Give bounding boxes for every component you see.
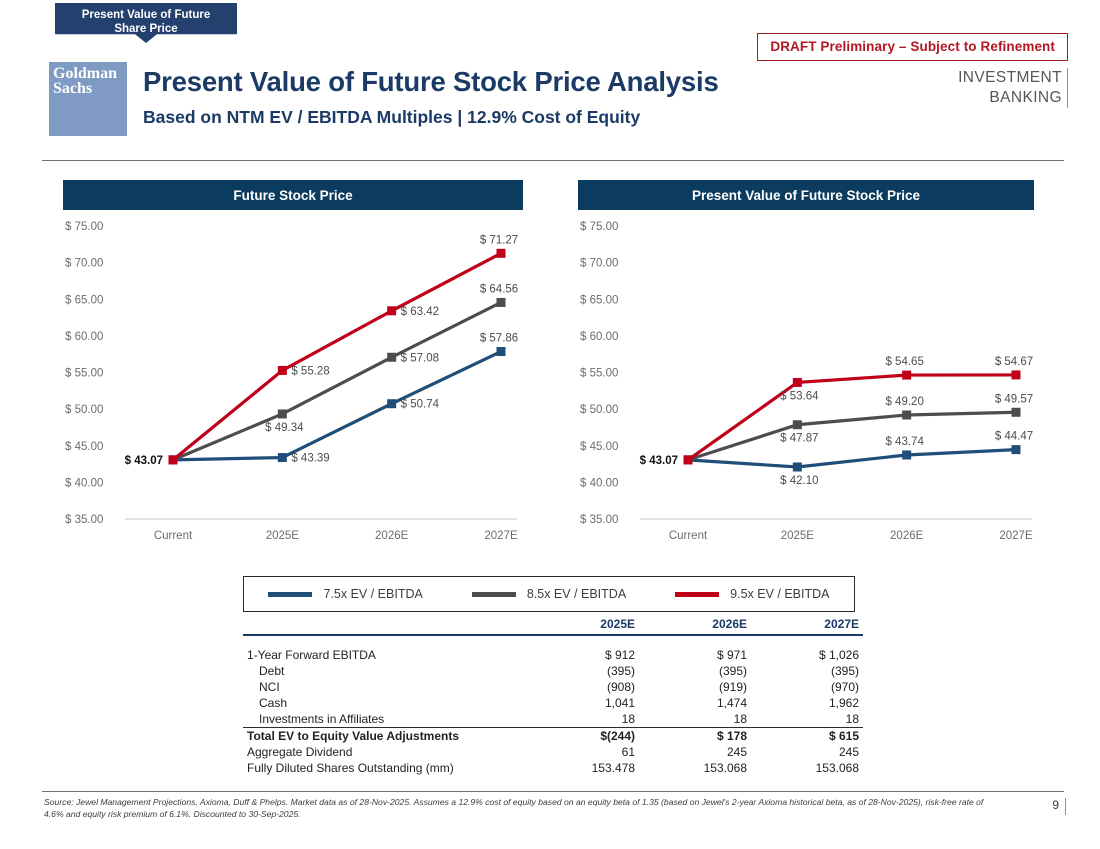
- table-cell-value: 153.068: [751, 760, 863, 776]
- table-cell-value: (395): [527, 663, 639, 679]
- table-cell-value: $(244): [527, 728, 639, 745]
- y-axis-tick-label: $ 75.00: [65, 221, 103, 233]
- table-cell-label: NCI: [243, 679, 527, 695]
- data-point-label: $ 49.20: [885, 396, 923, 408]
- table-row: Total EV to Equity Value Adjustments$(24…: [243, 728, 863, 745]
- data-point-label: $ 43.39: [291, 453, 329, 465]
- page-subtitle: Based on NTM EV / EBITDA Multiples | 12.…: [143, 107, 640, 128]
- legend-item-1: 7.5x EV / EBITDA: [244, 587, 447, 601]
- logo-line1: Goldman: [49, 62, 127, 81]
- data-point-marker: [1012, 445, 1021, 454]
- y-axis-tick-label: $ 40.00: [580, 477, 618, 489]
- table-cell-value: 153.068: [639, 760, 751, 776]
- y-axis-tick-label: $ 50.00: [65, 404, 103, 416]
- data-point-marker: [278, 453, 287, 462]
- data-point-marker: [902, 450, 911, 459]
- legend-label-1: 7.5x EV / EBITDA: [323, 587, 422, 601]
- page-number: 9: [1052, 798, 1066, 815]
- section-tab-banner: Present Value of Future Share Price: [55, 3, 237, 43]
- table-row: NCI(908)(919)(970): [243, 679, 863, 695]
- data-point-marker: [684, 455, 693, 464]
- table-cell-value: $ 178: [639, 728, 751, 745]
- table-row: 1-Year Forward EBITDA$ 912$ 971$ 1,026: [243, 647, 863, 663]
- data-point-marker: [1012, 408, 1021, 417]
- x-axis-tick-label: Current: [154, 530, 193, 542]
- investment-banking-mark: INVESTMENT BANKING: [958, 68, 1068, 108]
- legend-label-2: 8.5x EV / EBITDA: [527, 587, 626, 601]
- data-point-marker: [793, 462, 802, 471]
- y-axis-tick-label: $ 65.00: [65, 294, 103, 306]
- y-axis-tick-label: $ 40.00: [65, 477, 103, 489]
- table-cell-value: $ 971: [639, 647, 751, 663]
- table-cell-value: 1,962: [751, 695, 863, 711]
- table-cell-label: Investments in Affiliates: [243, 711, 527, 728]
- y-axis-tick-label: $ 45.00: [65, 441, 103, 453]
- x-axis-tick-label: 2027E: [484, 530, 518, 542]
- table-col-label: [243, 617, 527, 635]
- table-cell-value: $ 615: [751, 728, 863, 745]
- data-point-label: $ 64.56: [480, 283, 518, 295]
- data-point-label: $ 54.65: [885, 356, 923, 368]
- table-cell-value: $ 912: [527, 647, 639, 663]
- table-row: Fully Diluted Shares Outstanding (mm)153…: [243, 760, 863, 776]
- chart-title-present-value-future-stock-price: Present Value of Future Stock Price: [578, 180, 1034, 210]
- table-spacer-row: [243, 635, 863, 647]
- y-axis-tick-label: $ 45.00: [580, 441, 618, 453]
- data-point-label: $ 54.67: [995, 356, 1033, 368]
- chart-present-value-future-stock-price: $ 35.00$ 40.00$ 45.00$ 50.00$ 55.00$ 60.…: [578, 214, 1048, 559]
- series-line: [688, 450, 1016, 467]
- x-axis-tick-label: 2026E: [375, 530, 409, 542]
- header-divider: [42, 160, 1064, 161]
- legend-item-3: 9.5x EV / EBITDA: [651, 587, 854, 601]
- y-axis-tick-label: $ 35.00: [580, 514, 618, 526]
- table-row: Cash1,0411,4741,962: [243, 695, 863, 711]
- data-point-marker: [387, 353, 396, 362]
- table-cell-value: (395): [751, 663, 863, 679]
- data-point-marker: [497, 298, 506, 307]
- data-point-marker: [793, 420, 802, 429]
- chart-legend: 7.5x EV / EBITDA8.5x EV / EBITDA9.5x EV …: [243, 576, 855, 612]
- table-col-2026e: 2026E: [639, 617, 751, 635]
- table-cell-value: 245: [751, 744, 863, 760]
- y-axis-tick-label: $ 50.00: [580, 404, 618, 416]
- data-point-marker: [497, 249, 506, 258]
- data-point-marker: [387, 306, 396, 315]
- ib-mark-line1: INVESTMENT: [958, 68, 1062, 88]
- data-point-label: $ 43.74: [885, 436, 924, 448]
- y-axis-tick-label: $ 75.00: [580, 221, 618, 233]
- table-cell-label: 1-Year Forward EBITDA: [243, 647, 527, 663]
- data-point-label: $ 63.42: [401, 306, 439, 318]
- y-axis-tick-label: $ 65.00: [580, 294, 618, 306]
- table-cell-value: 245: [639, 744, 751, 760]
- series-line: [173, 302, 501, 459]
- table-col-2025e: 2025E: [527, 617, 639, 635]
- series-line: [688, 375, 1016, 460]
- table-cell-value: (919): [639, 679, 751, 695]
- series-line: [173, 352, 501, 460]
- data-point-label: $ 44.47: [995, 431, 1033, 443]
- y-axis-tick-label: $ 60.00: [65, 331, 103, 343]
- data-point-label: $ 55.28: [291, 365, 329, 377]
- table-cell-value: (908): [527, 679, 639, 695]
- table-row: Debt(395)(395)(395): [243, 663, 863, 679]
- y-axis-tick-label: $ 55.00: [580, 368, 618, 380]
- page-title: Present Value of Future Stock Price Anal…: [143, 66, 719, 98]
- legend-swatch-2: [472, 592, 516, 597]
- table-cell-label: Debt: [243, 663, 527, 679]
- x-axis-tick-label: Current: [669, 530, 708, 542]
- data-point-label: $ 42.10: [780, 475, 818, 487]
- data-point-label: $ 57.86: [480, 333, 518, 345]
- table-cell-label: Cash: [243, 695, 527, 711]
- table-cell-value: $ 1,026: [751, 647, 863, 663]
- current-price-label: $ 43.07: [125, 455, 163, 467]
- x-axis-tick-label: 2027E: [999, 530, 1033, 542]
- data-point-label: $ 47.87: [780, 433, 818, 445]
- table-cell-value: 61: [527, 744, 639, 760]
- section-tab-line1: Present Value of Future: [55, 8, 237, 22]
- legend-label-3: 9.5x EV / EBITDA: [730, 587, 829, 601]
- table-col-2027e: 2027E: [751, 617, 863, 635]
- table-cell-value: 153.478: [527, 760, 639, 776]
- x-axis-tick-label: 2026E: [890, 530, 924, 542]
- y-axis-tick-label: $ 70.00: [65, 258, 103, 270]
- data-point-label: $ 57.08: [401, 352, 439, 364]
- table-row: Aggregate Dividend61245245: [243, 744, 863, 760]
- data-point-marker: [169, 455, 178, 464]
- logo-line2: Sachs: [49, 81, 127, 96]
- data-point-marker: [278, 366, 287, 375]
- y-axis-tick-label: $ 55.00: [65, 368, 103, 380]
- table-cell-value: (395): [639, 663, 751, 679]
- section-tab-line2: Share Price: [55, 22, 237, 36]
- current-price-label: $ 43.07: [640, 455, 678, 467]
- ev-to-equity-adjustments-table: 2025E 2026E 2027E 1-Year Forward EBITDA$…: [243, 617, 863, 776]
- data-point-label: $ 50.74: [401, 399, 440, 411]
- data-point-label: $ 49.34: [265, 422, 304, 434]
- source-note: Source: Jewel Management Projections, Ax…: [44, 797, 1004, 820]
- table-cell-label: Aggregate Dividend: [243, 744, 527, 760]
- legend-swatch-3: [675, 592, 719, 597]
- chart-title-future-stock-price: Future Stock Price: [63, 180, 523, 210]
- y-axis-tick-label: $ 70.00: [580, 258, 618, 270]
- table-cell-value: 1,041: [527, 695, 639, 711]
- data-point-marker: [497, 347, 506, 356]
- table-cell-value: (970): [751, 679, 863, 695]
- table-cell-value: 18: [751, 711, 863, 728]
- data-point-label: $ 49.57: [995, 393, 1033, 405]
- data-point-marker: [902, 371, 911, 380]
- goldman-sachs-logo: Goldman Sachs: [49, 62, 127, 136]
- chart-future-stock-price: $ 35.00$ 40.00$ 45.00$ 50.00$ 55.00$ 60.…: [63, 214, 533, 559]
- legend-item-2: 8.5x EV / EBITDA: [447, 587, 650, 601]
- footer-divider: [42, 791, 1064, 792]
- table-row: Investments in Affiliates181818: [243, 711, 863, 728]
- data-point-marker: [1012, 370, 1021, 379]
- draft-status-stamp: DRAFT Preliminary – Subject to Refinemen…: [757, 33, 1068, 61]
- legend-swatch-1: [268, 592, 312, 597]
- x-axis-tick-label: 2025E: [781, 530, 815, 542]
- table-cell-value: 18: [639, 711, 751, 728]
- data-point-marker: [278, 409, 287, 418]
- table-cell-label: Fully Diluted Shares Outstanding (mm): [243, 760, 527, 776]
- table-header-row: 2025E 2026E 2027E: [243, 617, 863, 635]
- table-cell-value: 18: [527, 711, 639, 728]
- data-point-label: $ 53.64: [780, 390, 819, 402]
- table-cell-value: 1,474: [639, 695, 751, 711]
- data-point-marker: [387, 399, 396, 408]
- y-axis-tick-label: $ 35.00: [65, 514, 103, 526]
- x-axis-tick-label: 2025E: [266, 530, 300, 542]
- table-cell-label: Total EV to Equity Value Adjustments: [243, 728, 527, 745]
- data-point-marker: [793, 378, 802, 387]
- ib-mark-line2: BANKING: [958, 88, 1062, 108]
- data-point-label: $ 71.27: [480, 234, 518, 246]
- data-point-marker: [902, 410, 911, 419]
- y-axis-tick-label: $ 60.00: [580, 331, 618, 343]
